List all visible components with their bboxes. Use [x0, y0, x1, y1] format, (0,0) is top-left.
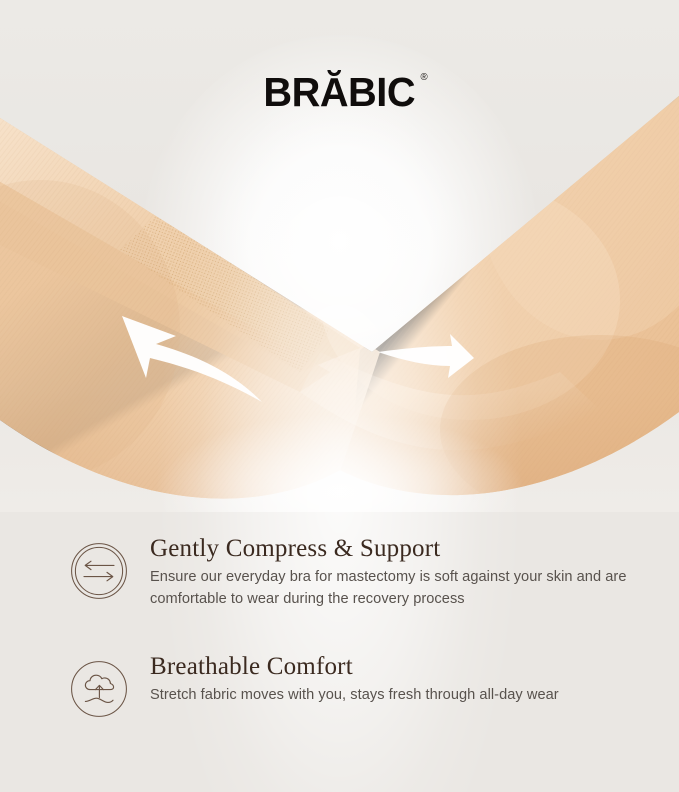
registered-trademark-icon: ®	[421, 73, 428, 83]
feature-title: Gently Compress & Support	[150, 534, 635, 563]
feature-list: Gently Compress & Support Ensure our eve…	[0, 512, 679, 718]
feature-description: Ensure our everyday bra for mastectomy i…	[150, 566, 635, 610]
feature-item-breathable-comfort: Breathable Comfort Stretch fabric moves …	[0, 652, 679, 718]
brand-logo: BRĂBIC ®	[0, 72, 679, 113]
feature-item-compress-support: Gently Compress & Support Ensure our eve…	[0, 534, 679, 610]
feature-title: Breathable Comfort	[150, 652, 635, 681]
brand-logo-wordmark: BRĂBIC	[264, 69, 416, 115]
feature-text-block: Gently Compress & Support Ensure our eve…	[128, 534, 635, 610]
product-feature-image: BRĂBIC ® Gently Compress & Suppor	[0, 0, 679, 792]
brand-logo-text: BRĂBIC ®	[264, 72, 416, 113]
breathable-cloud-icon	[70, 660, 128, 718]
feature-description: Stretch fabric moves with you, stays fre…	[150, 684, 635, 706]
two-way-stretch-arrows-icon	[70, 542, 128, 600]
feature-text-block: Breathable Comfort Stretch fabric moves …	[128, 652, 635, 706]
